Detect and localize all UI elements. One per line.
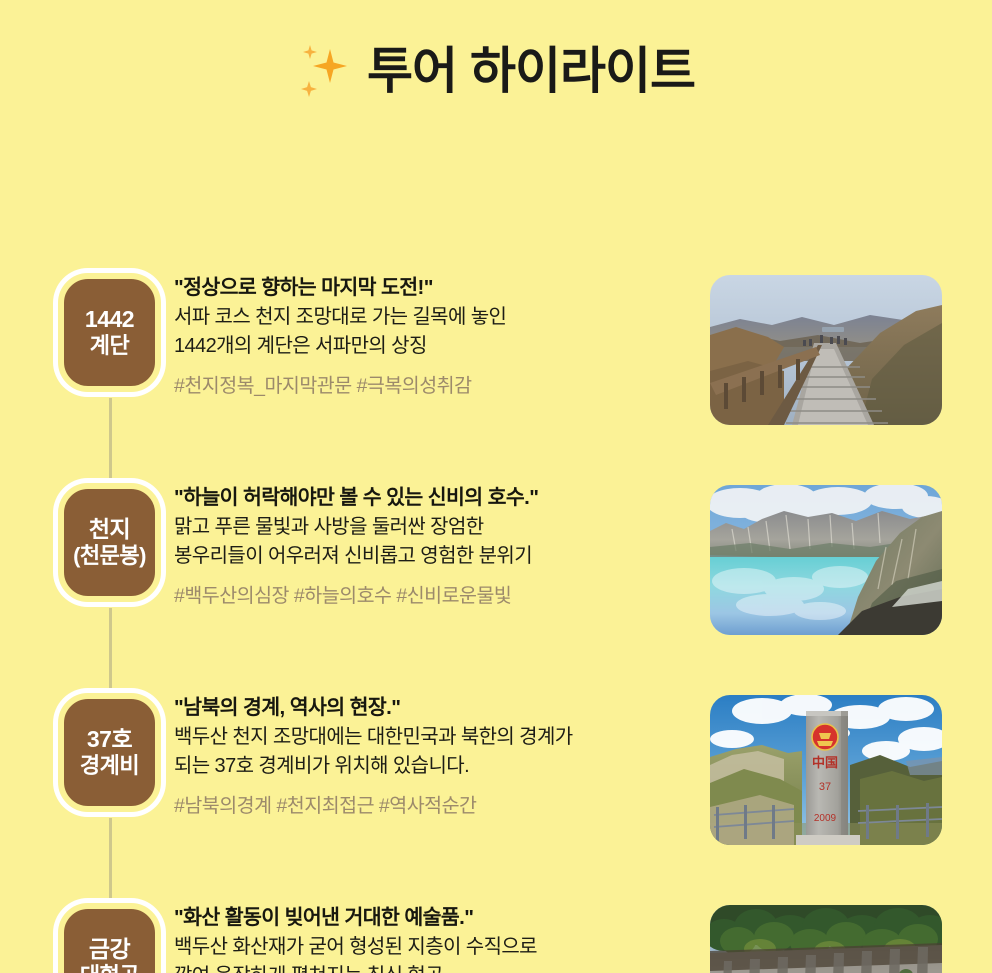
badge-line2: (천문봉) (73, 543, 146, 569)
badge-line2: 경계비 (80, 753, 139, 779)
highlight-quote: "정상으로 향하는 마지막 도전!" (174, 273, 694, 302)
highlight-description: 맑고 푸른 물빛과 사방을 둘러싼 장엄한 봉우리들이 어우러져 신비롭고 영험… (174, 513, 694, 570)
description-line: 백두산 화산재가 굳어 형성된 지층이 수직으로 (174, 933, 694, 962)
page-header: 투어 하이라이트 (0, 0, 992, 108)
marker-year-label: 2009 (814, 813, 837, 824)
highlight-card-4[interactable]: 금강 대협곡 "화산 활동이 빚어낸 거대한 예술품." 백두산 화산재가 굳어… (0, 903, 992, 973)
badge-line1: 천지 (89, 516, 130, 543)
highlight-card-3[interactable]: 37호 경계비 "남북의 경계, 역사의 현장." 백두산 천지 조망대에는 대… (0, 693, 992, 873)
badge-line1: 1442 (85, 306, 134, 333)
highlight-hashtags: #남북의경계 #천지최접근 #역사적순간 (174, 793, 719, 820)
boundary-marker-photo[interactable]: 中国 37 2009 (710, 695, 942, 845)
description-line: 깎여 웅장하게 펼쳐지는 침식 협곡 (174, 962, 694, 973)
heaven-lake-photo[interactable] (710, 485, 942, 635)
stairway-mountain-photo[interactable] (710, 275, 942, 425)
badge-line1: 37호 (87, 726, 132, 753)
highlight-badge-4: 금강 대협곡 (58, 903, 161, 973)
page-title: 투어 하이라이트 (367, 46, 695, 96)
highlight-quote: "남북의 경계, 역사의 현장." (174, 693, 719, 722)
highlight-description: 백두산 천지 조망대에는 대한민국과 북한의 경계가 되는 37호 경계비가 위… (174, 723, 719, 780)
highlight-body-4: "화산 활동이 빚어낸 거대한 예술품." 백두산 화산재가 굳어 형성된 지층… (174, 903, 694, 973)
highlight-quote: "화산 활동이 빚어낸 거대한 예술품." (174, 903, 694, 932)
highlight-body-1: "정상으로 향하는 마지막 도전!" 서파 코스 천지 조망대로 가는 길목에 … (174, 273, 694, 401)
highlight-badge-3: 37호 경계비 (58, 693, 161, 812)
badge-line1: 금강 (89, 936, 130, 963)
description-line: 백두산 천지 조망대에는 대한민국과 북한의 경계가 (174, 723, 719, 752)
description-line: 맑고 푸른 물빛과 사방을 둘러싼 장엄한 (174, 513, 694, 542)
grand-canyon-photo[interactable] (710, 905, 942, 973)
highlight-card-1[interactable]: 1442 계단 "정상으로 향하는 마지막 도전!" 서파 코스 천지 조망대로… (0, 273, 992, 453)
highlight-hashtags: #천지정복_마지막관문 #극복의성취감 (174, 373, 694, 400)
badge-line2: 계단 (90, 333, 129, 359)
highlight-description: 백두산 화산재가 굳어 형성된 지층이 수직으로 깎여 웅장하게 펼쳐지는 침식… (174, 933, 694, 973)
highlight-hashtags: #백두산의심장 #하늘의호수 #신비로운물빛 (174, 583, 694, 610)
highlight-quote: "하늘이 허락해야만 볼 수 있는 신비의 호수." (174, 483, 694, 512)
sparkles-icon (297, 43, 351, 99)
highlight-card-2[interactable]: 천지 (천문봉) "하늘이 허락해야만 볼 수 있는 신비의 호수." 맑고 푸… (0, 483, 992, 663)
description-line: 1442개의 계단은 서파만의 상징 (174, 332, 694, 361)
marker-country-label: 中国 (812, 755, 838, 771)
highlight-body-2: "하늘이 허락해야만 볼 수 있는 신비의 호수." 맑고 푸른 물빛과 사방을… (174, 483, 694, 611)
highlight-description: 서파 코스 천지 조망대로 가는 길목에 놓인 1442개의 계단은 서파만의 … (174, 303, 694, 360)
highlight-badge-2: 천지 (천문봉) (58, 483, 161, 602)
marker-number-label: 37 (819, 781, 831, 793)
badge-line2: 대협곡 (80, 963, 139, 973)
highlight-badge-1: 1442 계단 (58, 273, 161, 392)
description-line: 되는 37호 경계비가 위치해 있습니다. (174, 752, 719, 781)
description-line: 서파 코스 천지 조망대로 가는 길목에 놓인 (174, 303, 694, 332)
highlight-body-3: "남북의 경계, 역사의 현장." 백두산 천지 조망대에는 대한민국과 북한의… (174, 693, 719, 821)
description-line: 봉우리들이 어우러져 신비롭고 영험한 분위기 (174, 542, 694, 571)
